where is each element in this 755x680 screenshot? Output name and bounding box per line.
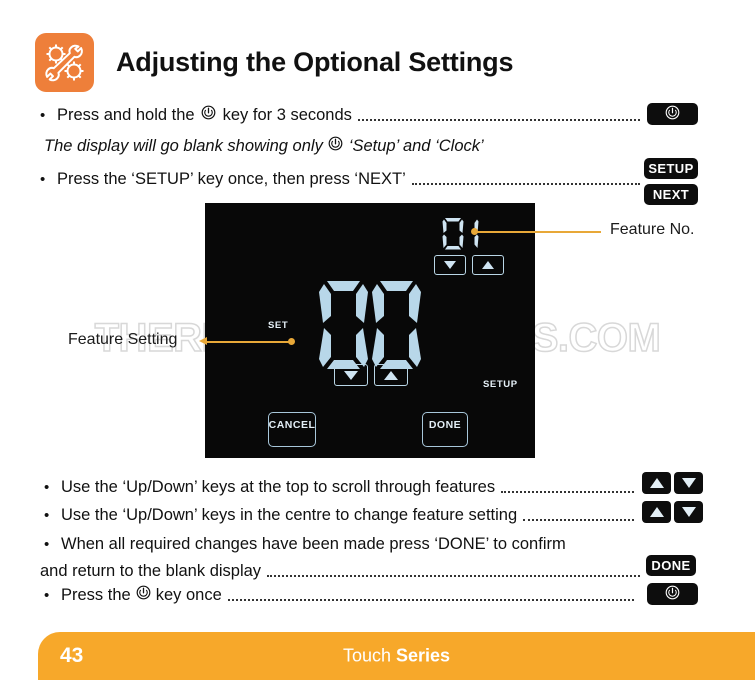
footer-title: Touch Series [38,646,755,667]
gears-wrench-icon [35,33,94,92]
step-text: and return to the blank display [40,562,261,581]
feature-no-callout-dot [471,228,478,235]
triangle-down-icon [682,507,696,517]
done-soft-key[interactable]: DONE [422,412,468,447]
leader-dots [228,598,634,601]
triangle-down-icon [344,371,358,380]
step-text-after: key for 3 seconds [223,106,352,125]
step-text: Press the ‘SETUP’ key once, then press ‘… [57,170,406,189]
note-text-after: ‘Setup’ and ‘Clock’ [349,137,484,156]
power-icon [665,585,680,603]
step-text-after: key once [156,586,222,605]
up-key[interactable] [642,501,671,523]
set-label: SET [268,320,288,331]
next-key[interactable]: NEXT [644,184,698,205]
feature-setting-leader-line [207,341,290,343]
step-text-before: Press the [61,586,131,605]
step-press-hold-power: • Press and hold the key for 3 seconds [40,105,645,125]
triangle-down-icon [444,261,456,269]
setup-indicator-label: SETUP [483,379,518,390]
page-header: Adjusting the Optional Settings [35,33,513,92]
bullet: • [44,479,61,496]
triangle-up-icon [482,261,494,269]
step-done-confirm: • When all required changes have been ma… [44,535,566,554]
bullet: • [40,107,57,124]
leader-dots [267,574,640,577]
leader-dots [501,490,634,493]
feature-no-leader-line [476,231,601,233]
up-key[interactable] [642,472,671,494]
triangle-up-icon [650,478,664,488]
feature-setting-down-button[interactable] [334,364,368,386]
cancel-soft-key[interactable]: CANCEL [268,412,316,447]
step-text: Use the ‘Up/Down’ keys at the top to scr… [61,478,495,497]
down-key[interactable] [674,472,703,494]
manual-page: THERMOSTATMANUALS.COM Adjusting the Opti… [0,0,755,680]
feature-number-down-button[interactable] [434,255,466,275]
triangle-up-icon [384,371,398,380]
power-key[interactable] [647,103,698,125]
bullet: • [44,536,61,553]
done-key[interactable]: DONE [646,555,696,576]
bullet: • [44,507,61,524]
power-key[interactable] [647,583,698,605]
step-text: Use the ‘Up/Down’ keys in the centre to … [61,506,517,525]
bullet: • [44,587,61,604]
power-icon [328,136,343,151]
power-icon [136,585,151,600]
step-updown-top: • Use the ‘Up/Down’ keys at the top to s… [44,478,639,497]
feature-setting-arrow-icon [199,337,207,345]
step-text: When all required changes have been made… [61,535,566,554]
leader-dots [412,182,640,185]
triangle-up-icon [650,507,664,517]
leader-dots [358,118,640,121]
power-icon [665,105,680,123]
footer-title-light: Touch [343,646,396,666]
triangle-down-icon [682,478,696,488]
step-done-confirm-cont: and return to the blank display [40,562,645,581]
feature-setting-up-button[interactable] [374,364,408,386]
step-press-setup-next: • Press the ‘SETUP’ key once, then press… [40,170,645,189]
leader-dots [523,518,634,521]
power-icon [201,105,216,120]
feature-setting-value [318,278,422,370]
step-updown-centre: • Use the ‘Up/Down’ keys in the centre t… [44,506,639,525]
note-text-before: The display will go blank showing only [44,137,323,156]
note-display-blank: The display will go blank showing only ‘… [44,136,484,156]
feature-setting-callout-dot [288,338,295,345]
feature-number-up-button[interactable] [472,255,504,275]
page-footer: 43 Touch Series [38,632,755,680]
down-key[interactable] [674,501,703,523]
bullet: • [40,171,57,188]
feature-setting-callout-label: Feature Setting [68,331,177,349]
feature-number-value [440,216,492,257]
page-title: Adjusting the Optional Settings [116,47,513,78]
feature-no-callout-label: Feature No. [610,221,694,239]
footer-title-bold: Series [396,646,450,666]
step-text-before: Press and hold the [57,106,195,125]
step-press-power-once: • Press the key once [44,585,639,605]
setup-key[interactable]: SETUP [644,158,698,179]
